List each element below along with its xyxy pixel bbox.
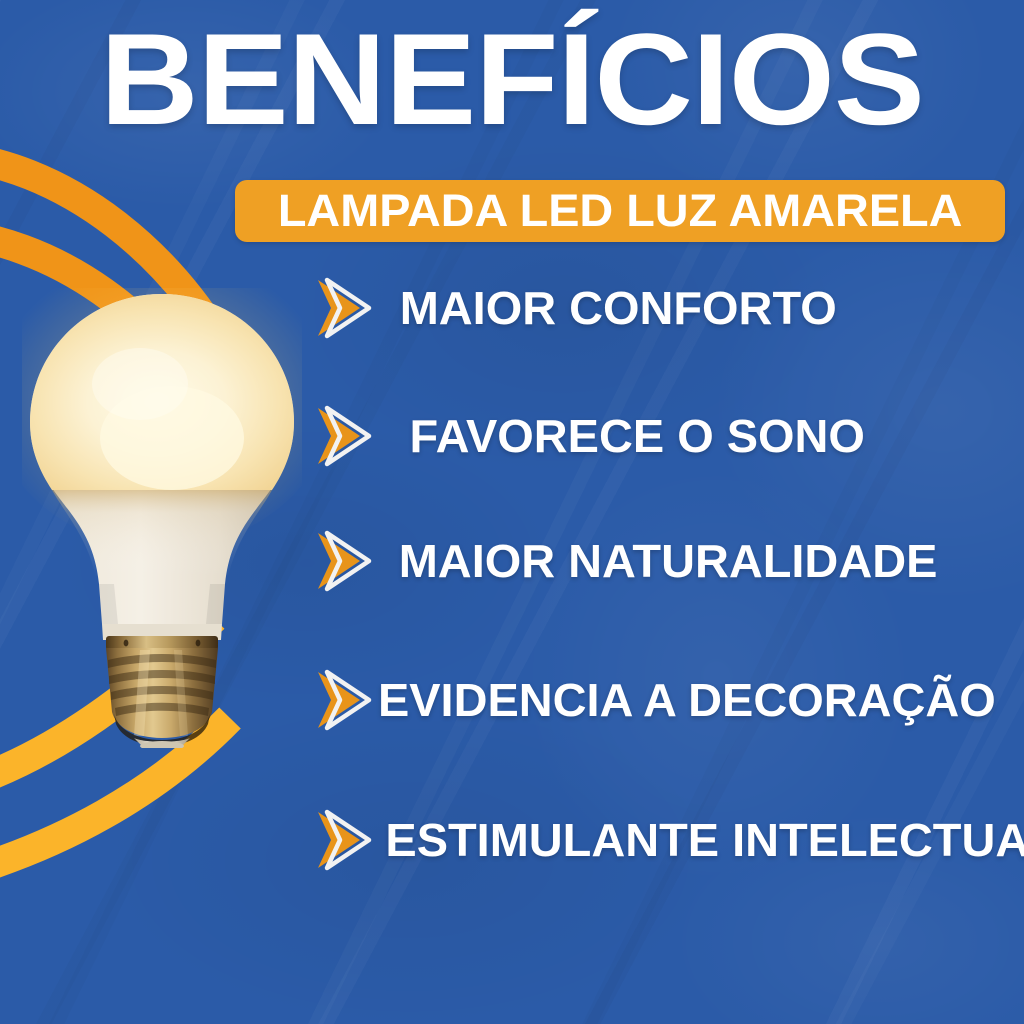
benefits-list: MAIOR CONFORTO FAVORECE O SONO MAIOR NAT… (300, 270, 1024, 910)
list-item-label: EVIDENCIA A DECORAÇÃO (378, 677, 996, 723)
chevron-right-arrow-icon (308, 803, 382, 877)
chevron-right-arrow-icon (308, 524, 382, 598)
list-item-label: MAIOR NATURALIDADE (399, 538, 938, 584)
led-light-bulb-image (22, 288, 302, 748)
list-item: ESTIMULANTE INTELECTUAL (308, 802, 1024, 878)
list-item: MAIOR CONFORTO (308, 270, 832, 346)
list-item-label: MAIOR CONFORTO (400, 285, 837, 331)
subtitle-banner: LAMPADA LED LUZ AMARELA (235, 180, 1005, 242)
list-item-label: ESTIMULANTE INTELECTUAL (385, 817, 1024, 863)
chevron-right-arrow-icon (308, 663, 382, 737)
chevron-right-arrow-icon (308, 399, 382, 473)
list-item: EVIDENCIA A DECORAÇÃO (308, 662, 990, 738)
page-title: BENEFÍCIOS (0, 14, 1024, 144)
list-item: MAIOR NATURALIDADE (308, 523, 932, 599)
list-item: FAVORECE O SONO (308, 398, 860, 474)
poster-canvas: BENEFÍCIOS LAMPADA LED LUZ AMARELA MAIOR… (0, 0, 1024, 1024)
chevron-right-arrow-icon (308, 271, 382, 345)
list-item-label: FAVORECE O SONO (410, 413, 865, 459)
subtitle-text: LAMPADA LED LUZ AMARELA (278, 188, 963, 233)
